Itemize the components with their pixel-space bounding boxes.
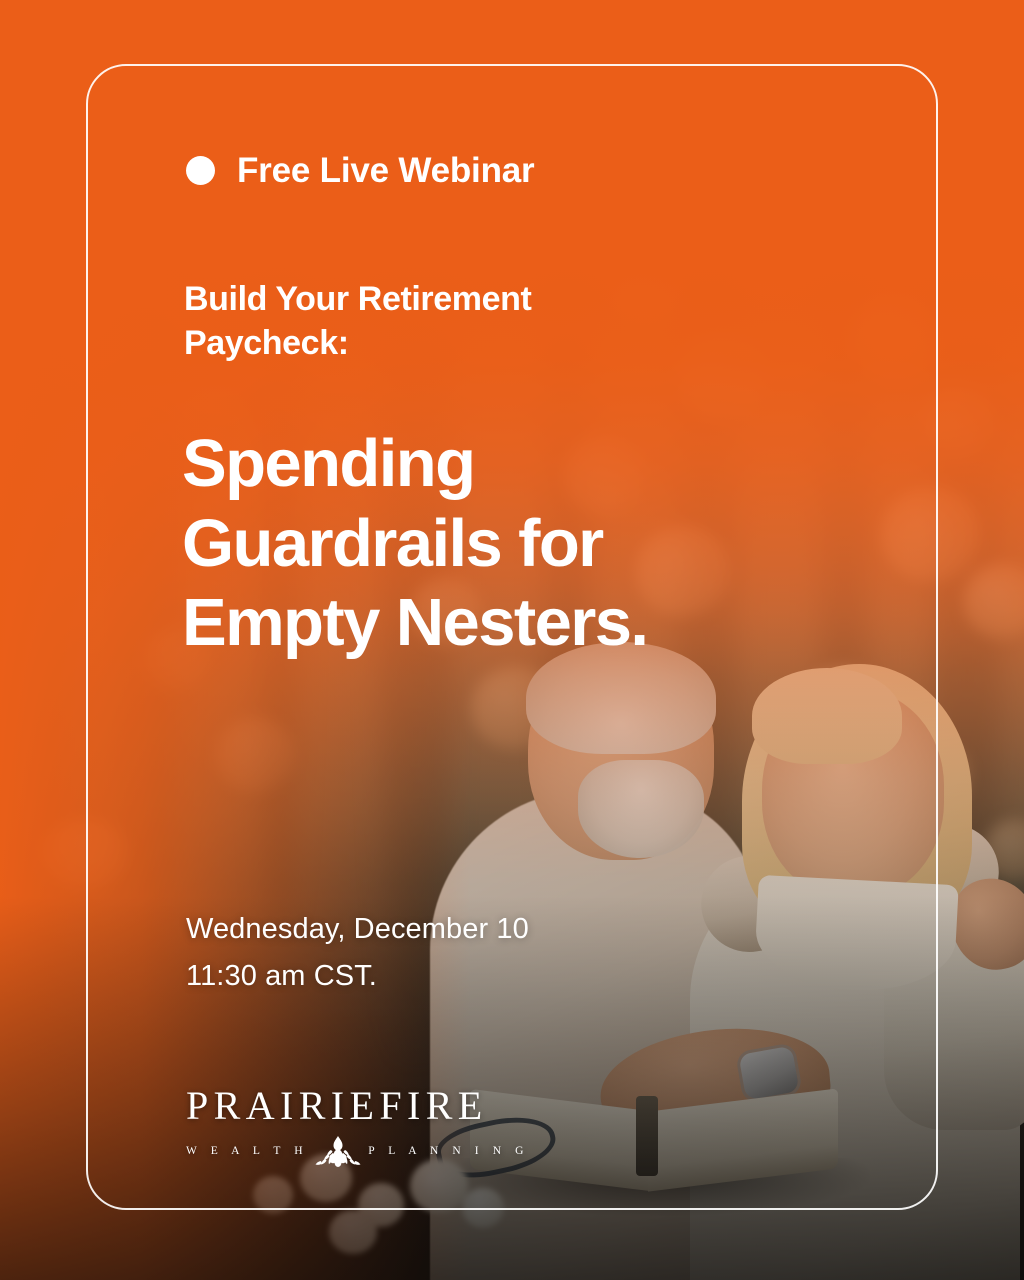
poster-content: Free Live Webinar Build Your Retirement … bbox=[0, 0, 1024, 1280]
headline-line-3: Empty Nesters. bbox=[182, 583, 802, 663]
event-date: Wednesday, December 10 bbox=[186, 906, 529, 953]
prairiefire-logo: PRAIRIEFIRE W E A L T H bbox=[186, 1086, 492, 1169]
headline-line-1: Spending bbox=[182, 424, 802, 504]
eyebrow-badge: Free Live Webinar bbox=[186, 153, 534, 188]
eyebrow-label: Free Live Webinar bbox=[237, 153, 534, 188]
wheat-flame-emblem-icon bbox=[310, 1135, 366, 1169]
event-datetime: Wednesday, December 10 11:30 am CST. bbox=[186, 906, 529, 1000]
event-time: 11:30 am CST. bbox=[186, 953, 529, 1000]
filled-circle-bullet-icon bbox=[186, 156, 215, 185]
page-title: Spending Guardrails for Empty Nesters. bbox=[182, 424, 802, 663]
logo-tagline-right: P L A N N I N G bbox=[368, 1146, 529, 1158]
kicker-line-1: Build Your Retirement bbox=[184, 277, 704, 321]
kicker-line-2: Paycheck: bbox=[184, 321, 704, 365]
webinar-poster: Free Live Webinar Build Your Retirement … bbox=[0, 0, 1024, 1280]
logo-wordmark: PRAIRIEFIRE bbox=[186, 1086, 492, 1126]
headline-line-2: Guardrails for bbox=[182, 504, 802, 584]
logo-tagline: W E A L T H bbox=[186, 1135, 478, 1169]
logo-tagline-left: W E A L T H bbox=[186, 1146, 308, 1158]
kicker-text: Build Your Retirement Paycheck: bbox=[184, 277, 704, 365]
